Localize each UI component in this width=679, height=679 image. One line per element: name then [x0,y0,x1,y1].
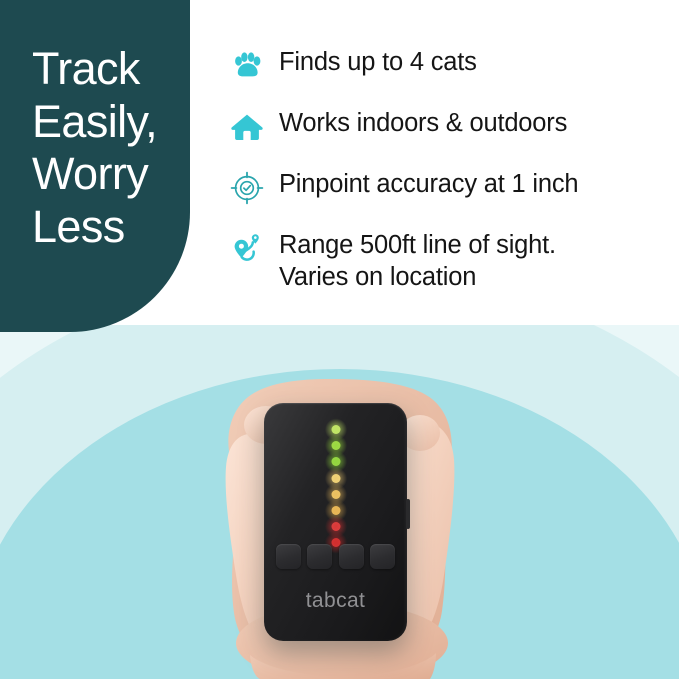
device-button-3[interactable] [339,544,364,569]
product-feature-image: tabcat Track Easily, Worry Less Finds up [0,0,679,679]
led-4 [331,474,340,483]
feature-label: Range 500ft line of sight. Varies on loc… [279,229,556,294]
house-icon [228,108,266,146]
feature-label: Pinpoint accuracy at 1 inch [279,168,578,201]
led-6 [331,506,340,515]
tabcat-tracker-device[interactable]: tabcat [264,403,407,641]
headline-panel: Track Easily, Worry Less [0,0,190,332]
led-2 [331,441,340,450]
feature-item-indoor-outdoor: Works indoors & outdoors [228,107,668,149]
led-5 [331,490,340,499]
feature-item-cats: Finds up to 4 cats [228,46,668,88]
led-3 [331,457,340,466]
device-button-1[interactable] [276,544,301,569]
route-location-pin-icon [228,230,266,268]
radar-scene: tabcat [0,325,679,679]
device-button-4[interactable] [370,544,395,569]
feature-label: Works indoors & outdoors [279,107,567,140]
page-title: Track Easily, Worry Less [32,43,200,254]
device-side-button[interactable] [406,499,410,529]
brand-logo-text: tabcat [264,589,407,613]
device-button-2[interactable] [307,544,332,569]
target-crosshair-check-icon [228,169,266,207]
led-indicator-column [331,425,340,555]
header-section: Track Easily, Worry Less Finds up to 4 c… [0,0,679,335]
feature-item-accuracy: Pinpoint accuracy at 1 inch [228,168,668,210]
device-button-row [276,544,395,569]
led-7 [331,522,340,531]
feature-list: Finds up to 4 cats Works indoors & outdo… [228,46,668,294]
paw-print-icon [228,47,266,85]
feature-label: Finds up to 4 cats [279,46,477,79]
feature-item-range: Range 500ft line of sight. Varies on loc… [228,229,668,294]
led-1 [331,425,340,434]
